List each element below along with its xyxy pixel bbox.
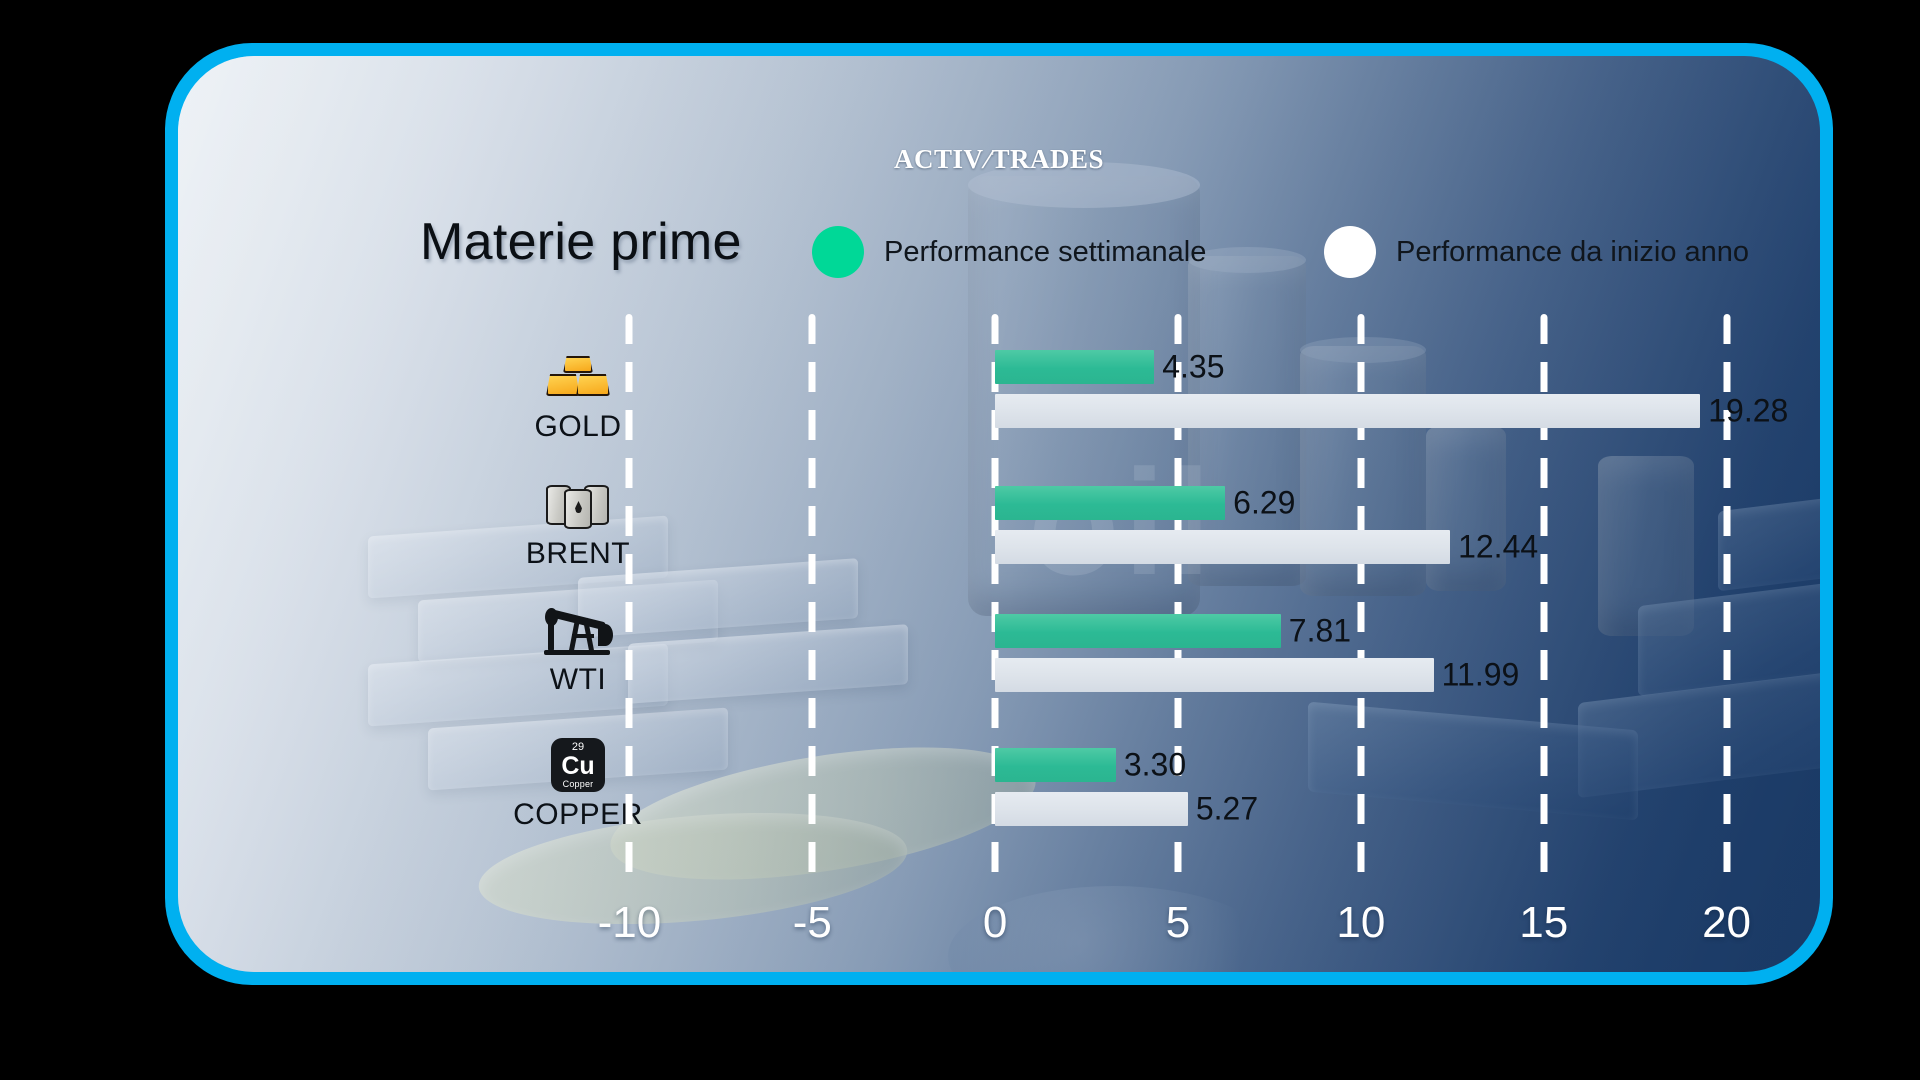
x-axis-tick-label: -5 (752, 898, 872, 948)
bar-row: 11.99 (538, 658, 1818, 692)
bar-weekly[interactable] (995, 486, 1225, 520)
legend-item-weekly[interactable]: Performance settimanale (812, 226, 1206, 278)
bar-ytd[interactable] (995, 394, 1700, 428)
legend-dot-weekly-icon (812, 226, 864, 278)
bar-weekly[interactable] (995, 350, 1154, 384)
chart-plot-area: 4.3519.286.2912.447.8111.993.305.27 (538, 314, 1818, 876)
bar-row: 5.27 (538, 792, 1818, 826)
legend-item-ytd[interactable]: Performance da inizio anno (1324, 226, 1749, 278)
chart-card-frame: oil ACTIV/TRADES Materi (166, 44, 1832, 984)
screenshot-root: oil ACTIV/TRADES Materi (0, 0, 1920, 1080)
logo-text-activ: ACTIV (894, 144, 984, 174)
bar-row: 3.30 (538, 748, 1818, 782)
activtrades-logo: ACTIV/TRADES (178, 144, 1820, 175)
logo-text-trades: TRADES (992, 144, 1105, 174)
bar-value-label: 12.44 (1458, 530, 1538, 562)
bar-value-label: 7.81 (1289, 614, 1351, 646)
bar-row: 6.29 (538, 486, 1818, 520)
x-axis-tick-label: 20 (1667, 898, 1787, 948)
bar-value-label: 5.27 (1196, 792, 1258, 824)
legend-label-ytd: Performance da inizio anno (1396, 236, 1749, 269)
bar-value-label: 11.99 (1442, 658, 1520, 690)
x-axis-tick-label: 15 (1484, 898, 1604, 948)
bar-value-label: 19.28 (1708, 394, 1788, 426)
bar-value-label: 6.29 (1233, 486, 1295, 518)
x-axis-tick-label: 5 (1118, 898, 1238, 948)
page-title: Materie prime (420, 212, 742, 272)
bar-weekly[interactable] (995, 614, 1281, 648)
bar-ytd[interactable] (995, 530, 1450, 564)
bar-ytd[interactable] (995, 658, 1433, 692)
bar-weekly[interactable] (995, 748, 1116, 782)
chart-card: oil ACTIV/TRADES Materi (178, 56, 1820, 972)
bar-value-label: 4.35 (1162, 350, 1224, 382)
x-axis-tick-label: 10 (1301, 898, 1421, 948)
legend-label-weekly: Performance settimanale (884, 236, 1206, 269)
legend-dot-ytd-icon (1324, 226, 1376, 278)
x-axis-tick-label: -10 (569, 898, 689, 948)
bar-value-label: 3.30 (1124, 748, 1186, 780)
bar-row: 7.81 (538, 614, 1818, 648)
bar-row: 19.28 (538, 394, 1818, 428)
bar-row: 12.44 (538, 530, 1818, 564)
bar-ytd[interactable] (995, 792, 1188, 826)
x-axis-tick-label: 0 (935, 898, 1055, 948)
bar-row: 4.35 (538, 350, 1818, 384)
